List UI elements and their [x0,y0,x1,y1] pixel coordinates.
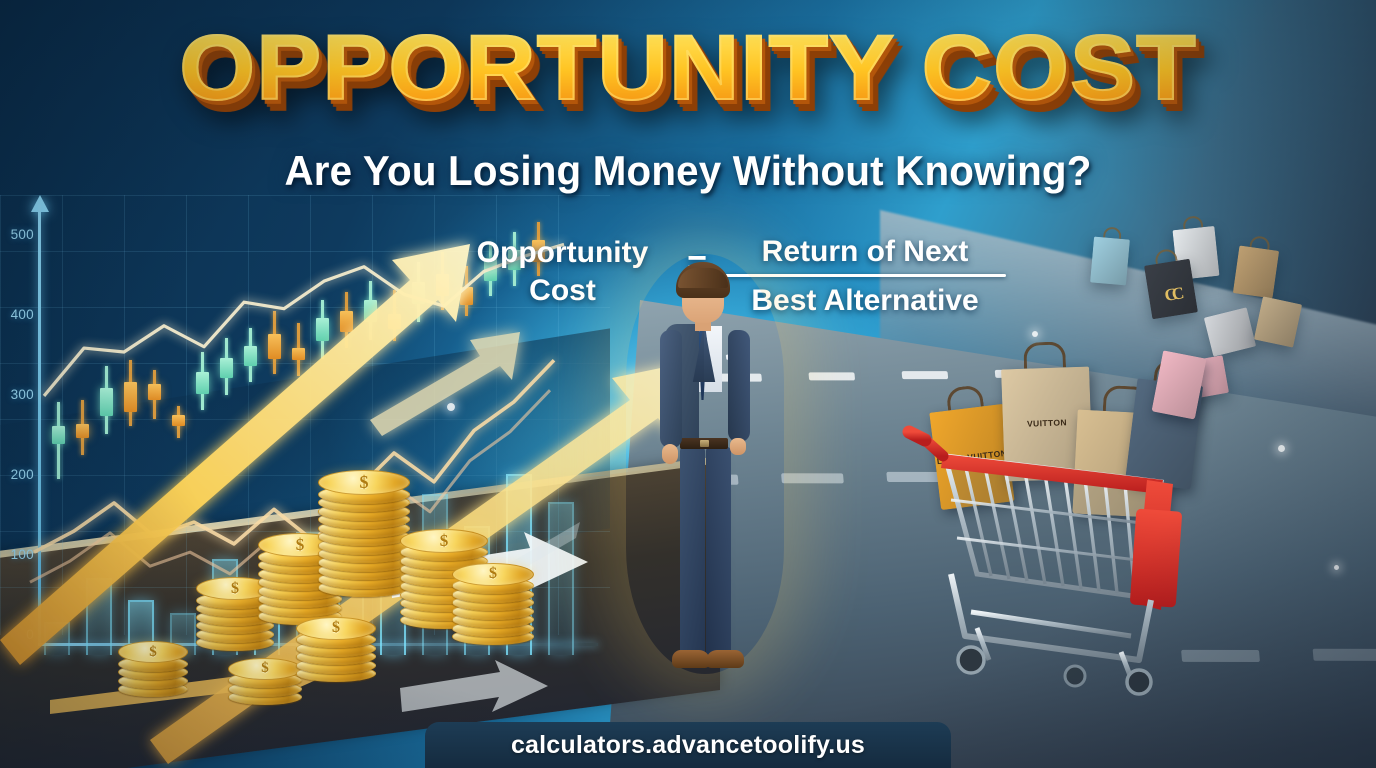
vignette-overlay [0,0,1376,768]
infographic-canvas: 0100200300400500 [0,0,1376,768]
footer-bar: calculators.advancetoolify.us [425,722,951,768]
footer-url[interactable]: calculators.advancetoolify.us [511,731,865,760]
